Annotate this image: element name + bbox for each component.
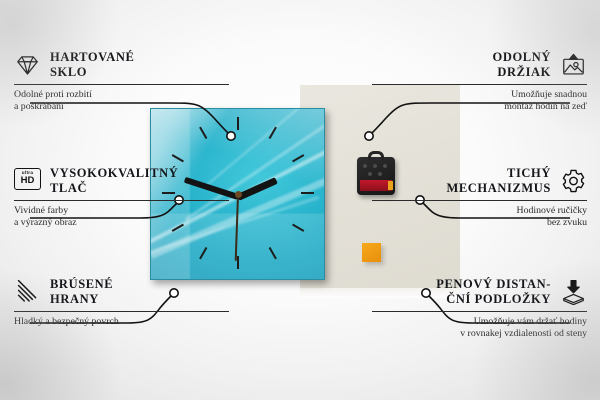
- feature-title-line-2: ČNÍ PODLOŽKY: [436, 292, 551, 307]
- feature-desc-line-1: Vividné farby: [14, 205, 229, 217]
- feature-durable-holder[interactable]: ODOLNÝ DRŽIAK Umožňuje snadnou montáž ho…: [372, 50, 587, 113]
- feature-desc-line-2: montáž hodin na zeď: [372, 101, 587, 113]
- press-down-layers-icon: [560, 279, 587, 305]
- feature-title-line-1: VYSOKOKVALITNÝ: [50, 166, 178, 181]
- feature-title-line-1: HARTOVANÉ: [50, 50, 134, 65]
- feature-desc-line-1: Umožňuje vám držať hodiny: [372, 316, 587, 328]
- feature-header: ODOLNÝ DRŽIAK: [372, 50, 587, 79]
- feature-title-line-2: HRANY: [50, 292, 113, 307]
- feature-hardened-glass[interactable]: HARTOVANÉ SKLO Odolné proti rozbití a po…: [14, 50, 229, 113]
- feature-desc-line-2: v rovnakej vzdialenosti od steny: [372, 328, 587, 340]
- feature-high-quality-print[interactable]: ultra HD VYSOKOKVALITNÝ TLAČ Vividné far…: [14, 166, 229, 229]
- gear-icon: [560, 168, 587, 194]
- divider: [372, 311, 587, 312]
- feature-desc-line-2: a poškrábání: [14, 101, 229, 113]
- connector-dot: [365, 132, 373, 140]
- feature-header: ultra HD VYSOKOKVALITNÝ TLAČ: [14, 166, 229, 195]
- picture-frame-hanger-icon: [560, 52, 587, 78]
- feature-silent-mechanism[interactable]: TICHÝ MECHANIZMUS Hodinové ručičky bez z…: [372, 166, 587, 229]
- feature-title-line-2: TLAČ: [50, 181, 178, 196]
- feature-desc-line-2: bez zvuku: [372, 217, 587, 229]
- feature-title-line-1: PENOVÝ DISTAN-: [436, 277, 551, 292]
- feature-desc-line-1: Umožňuje snadnou: [372, 89, 587, 101]
- infographic-canvas: HARTOVANÉ SKLO Odolné proti rozbití a po…: [0, 0, 600, 400]
- connector-dot: [227, 132, 235, 140]
- feature-desc-line-1: Odolné proti rozbití: [14, 89, 229, 101]
- divider: [14, 200, 229, 201]
- feature-desc-line-1: Hladký a bezpečný povrch: [14, 316, 229, 328]
- ultra-hd-badge-icon: ultra HD: [14, 168, 41, 194]
- feature-title-line-2: SKLO: [50, 65, 134, 80]
- feature-title-line-1: BRÚSENÉ: [50, 277, 113, 292]
- feature-title-line-2: DRŽIAK: [493, 65, 551, 80]
- feature-foam-distance-pads[interactable]: PENOVÝ DISTAN- ČNÍ PODLOŽKY Umožňuje vám…: [372, 277, 587, 340]
- feature-header: HARTOVANÉ SKLO: [14, 50, 229, 79]
- hd-label: HD: [21, 176, 35, 186]
- feature-header: BRÚSENÉ HRANY: [14, 277, 229, 306]
- feature-title-line-1: TICHÝ: [446, 166, 551, 181]
- feature-desc-line-1: Hodinové ručičky: [372, 205, 587, 217]
- divider: [372, 84, 587, 85]
- diamond-icon: [14, 52, 41, 78]
- feature-header: PENOVÝ DISTAN- ČNÍ PODLOŽKY: [372, 277, 587, 306]
- diagonal-lines-icon: [14, 279, 41, 305]
- feature-title-line-1: ODOLNÝ: [493, 50, 551, 65]
- divider: [14, 311, 229, 312]
- feature-desc-line-2: a výrazný obraz: [14, 217, 229, 229]
- divider: [14, 84, 229, 85]
- feature-title-line-2: MECHANIZMUS: [446, 181, 551, 196]
- divider: [372, 200, 587, 201]
- feature-polished-edges[interactable]: BRÚSENÉ HRANY Hladký a bezpečný povrch: [14, 277, 229, 328]
- feature-header: TICHÝ MECHANIZMUS: [372, 166, 587, 195]
